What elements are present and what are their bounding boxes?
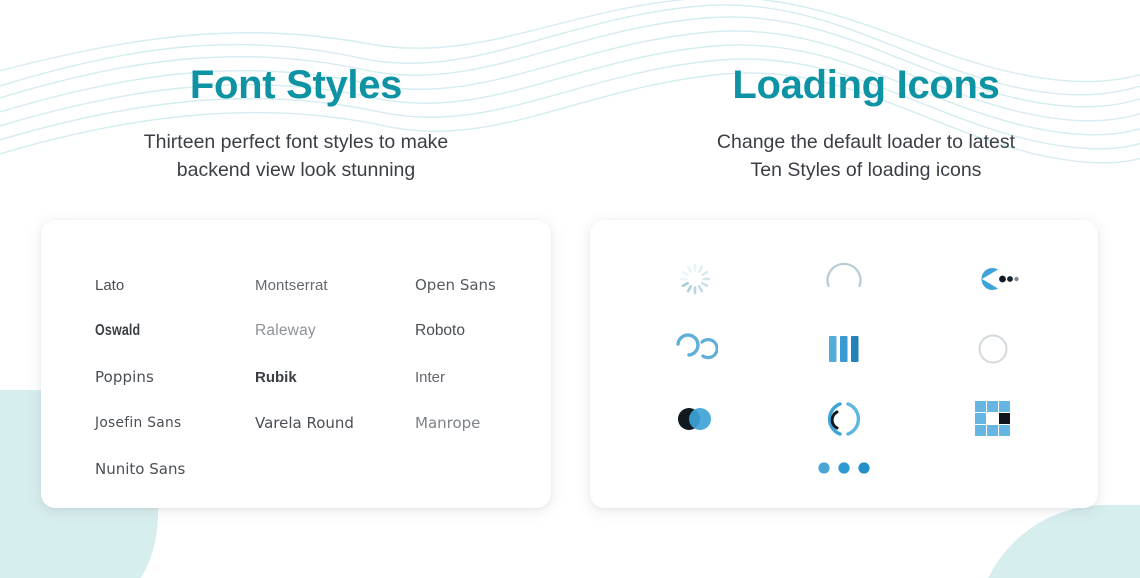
- loading-icons-card: [590, 220, 1098, 508]
- font-item-rubik[interactable]: Rubik: [255, 369, 415, 386]
- loader-cell-5[interactable]: [814, 319, 874, 379]
- font-item-lato[interactable]: Lato: [95, 277, 255, 294]
- font-list-grid: Lato Montserrat Open Sans Oswald Raleway…: [95, 262, 525, 492]
- page-canvas: Font Styles Thirteen perfect font styles…: [0, 0, 1140, 578]
- two-circles-icon: [672, 404, 718, 434]
- loading-icons-subheading: Change the default loader to latest Ten …: [592, 129, 1140, 184]
- font-item-montserrat[interactable]: Montserrat: [255, 277, 415, 294]
- font-item-open-sans[interactable]: Open Sans: [415, 276, 525, 294]
- loader-icon-grid: [620, 244, 1068, 454]
- grid-squares-icon: [974, 400, 1012, 438]
- loader-cell-8[interactable]: [814, 389, 874, 449]
- font-styles-subheading: Thirteen perfect font styles to make bac…: [0, 129, 592, 184]
- loader-cell-1[interactable]: [665, 249, 725, 309]
- loader-cell-7[interactable]: [665, 389, 725, 449]
- loader-cell-4[interactable]: [665, 319, 725, 379]
- loader-footer-row[interactable]: [590, 460, 1098, 476]
- loader-cell-6[interactable]: [963, 319, 1023, 379]
- loader-cell-3[interactable]: [963, 249, 1023, 309]
- loader-cell-9[interactable]: [963, 389, 1023, 449]
- arc-ring-icon: [821, 256, 867, 302]
- font-item-varela-round[interactable]: Varela Round: [255, 414, 415, 432]
- font-item-raleway[interactable]: Raleway: [255, 322, 415, 340]
- dual-crescent-icon: [672, 330, 718, 368]
- font-item-inter[interactable]: Inter: [415, 369, 525, 386]
- font-item-josefin-sans[interactable]: Josefin Sans: [95, 415, 247, 431]
- font-item-nunito-sans[interactable]: Nunito Sans: [95, 460, 255, 478]
- three-bars-icon: [826, 333, 862, 365]
- three-dots-icon: [815, 460, 873, 476]
- font-styles-heading: Font Styles: [0, 62, 592, 108]
- font-item-roboto[interactable]: Roboto: [415, 322, 525, 340]
- bracket-arcs-icon: [823, 398, 865, 440]
- pacman-dots-icon: [965, 262, 1021, 296]
- spinner-radial-bars-icon: [677, 261, 713, 297]
- loading-icons-heading: Loading Icons: [592, 62, 1140, 108]
- font-item-poppins[interactable]: Poppins: [95, 368, 255, 386]
- loader-cell-2[interactable]: [814, 249, 874, 309]
- thin-circle-icon: [976, 332, 1010, 366]
- font-item-manrope[interactable]: Manrope: [415, 414, 525, 432]
- font-styles-card: Lato Montserrat Open Sans Oswald Raleway…: [41, 220, 551, 508]
- font-item-oswald[interactable]: Oswald: [95, 322, 220, 340]
